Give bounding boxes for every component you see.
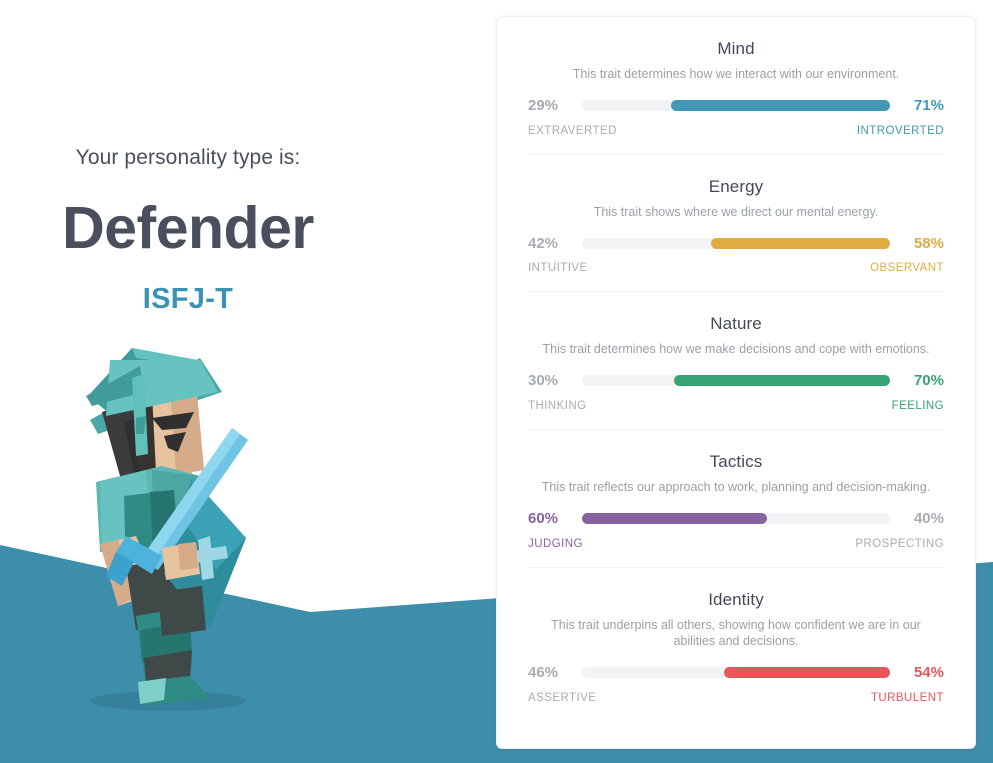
trait-right-label: OBSERVANT — [870, 262, 944, 274]
trait-left-percent: 29% — [528, 97, 575, 114]
trait-fill — [582, 513, 767, 524]
trait-right-percent: 70% — [897, 372, 944, 389]
trait-left-label: ASSERTIVE — [528, 692, 596, 704]
page-title: Defender — [0, 196, 376, 261]
trait-bar-row: 46% 54% — [528, 663, 944, 683]
trait-bar-row: 42% 58% — [528, 233, 944, 253]
trait-bar-row: 60% 40% — [528, 509, 944, 529]
trait-left-label: THINKING — [528, 400, 587, 412]
trait-right-label: PROSPECTING — [855, 538, 944, 550]
trait-right-percent: 58% — [897, 235, 944, 252]
trait-right-percent: 71% — [897, 97, 944, 114]
trait-title: Identity — [528, 590, 944, 610]
trait-fill — [711, 238, 890, 249]
trait-description: This trait shows where we direct our men… — [528, 204, 944, 221]
trait-title: Energy — [528, 177, 944, 197]
trait-fill — [674, 375, 890, 386]
trait-nature: Nature This trait determines how we make… — [528, 292, 944, 430]
trait-left-label: EXTRAVERTED — [528, 125, 617, 137]
trait-title: Tactics — [528, 452, 944, 472]
trait-right-label: INTROVERTED — [857, 125, 944, 137]
trait-track — [582, 238, 890, 249]
trait-description: This trait determines how we make decisi… — [528, 341, 944, 358]
trait-labels-row: JUDGING PROSPECTING — [528, 538, 944, 567]
trait-right-percent: 40% — [897, 510, 944, 527]
trait-left-percent: 46% — [528, 664, 575, 681]
trait-right-label: FEELING — [892, 400, 944, 412]
trait-labels-row: ASSERTIVE TURBULENT — [528, 692, 944, 721]
trait-description: This trait determines how we interact wi… — [528, 66, 944, 83]
trait-title: Nature — [528, 314, 944, 334]
trait-energy: Energy This trait shows where we direct … — [528, 155, 944, 293]
intro-text: Your personality type is: — [0, 146, 376, 170]
trait-track — [582, 100, 890, 111]
trait-bar-row: 30% 70% — [528, 371, 944, 391]
trait-description: This trait underpins all others, showing… — [528, 617, 944, 650]
trait-track — [582, 667, 890, 678]
trait-left-label: JUDGING — [528, 538, 583, 550]
defender-character-illustration — [40, 330, 370, 730]
trait-labels-row: INTUITIVE OBSERVANT — [528, 262, 944, 291]
trait-identity: Identity This trait underpins all others… — [528, 568, 944, 721]
trait-right-label: TURBULENT — [871, 692, 944, 704]
trait-labels-row: THINKING FEELING — [528, 400, 944, 429]
trait-title: Mind — [528, 39, 944, 59]
result-summary-panel: Your personality type is: Defender ISFJ-… — [0, 0, 470, 763]
trait-left-percent: 42% — [528, 235, 575, 252]
trait-track — [582, 513, 890, 524]
trait-tactics: Tactics This trait reflects our approach… — [528, 430, 944, 568]
trait-right-percent: 54% — [897, 664, 944, 681]
traits-card: Mind This trait determines how we intera… — [496, 16, 976, 749]
trait-left-percent: 30% — [528, 372, 575, 389]
trait-fill — [671, 100, 890, 111]
trait-track — [582, 375, 890, 386]
personality-result-page: Your personality type is: Defender ISFJ-… — [0, 0, 993, 763]
trait-fill — [724, 667, 890, 678]
type-code-label: ISFJ-T — [0, 283, 376, 316]
trait-left-label: INTUITIVE — [528, 262, 588, 274]
trait-description: This trait reflects our approach to work… — [528, 479, 944, 496]
trait-mind: Mind This trait determines how we intera… — [528, 17, 944, 155]
trait-bar-row: 29% 71% — [528, 96, 944, 116]
trait-labels-row: EXTRAVERTED INTROVERTED — [528, 125, 944, 154]
trait-left-percent: 60% — [528, 510, 575, 527]
